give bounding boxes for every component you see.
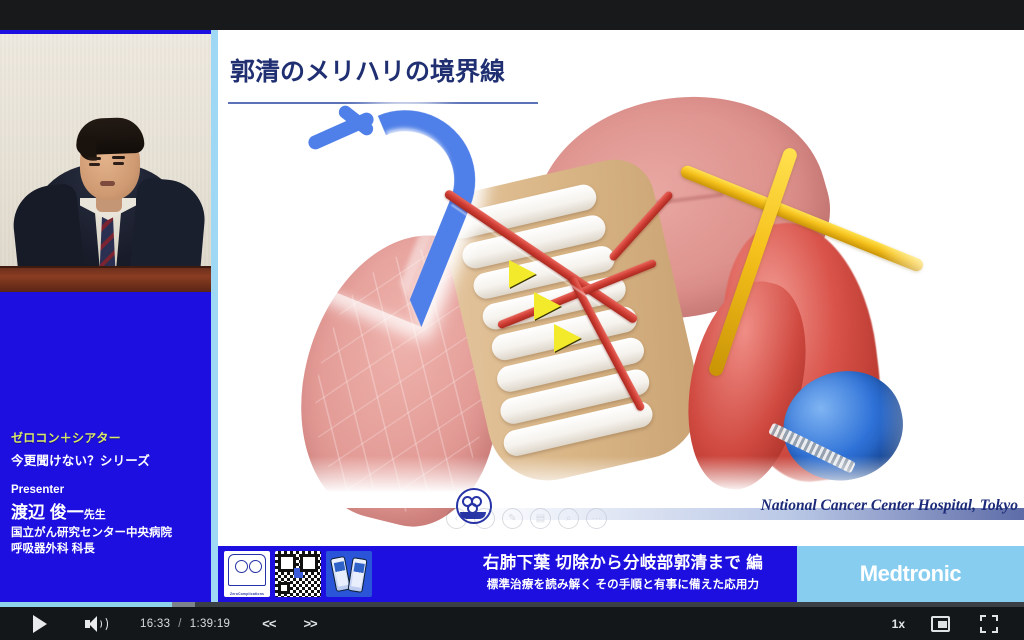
series-line-1: ゼロコン＋シアター (11, 429, 207, 446)
qr-code[interactable] (275, 551, 321, 597)
presenter-label: Presenter (11, 484, 207, 496)
presenter-affiliation-1: 国立がん研究センター中央病院 (11, 524, 207, 540)
rewind-button[interactable]: << (262, 616, 275, 631)
playback-speed-button[interactable]: 1x (892, 617, 905, 631)
medtronic-logo: Medtronic (797, 546, 1024, 602)
player-controls: 16:33/1:39:19 << >> 1x (0, 602, 1024, 640)
banner-title: 右肺下葉 切除から分岐部郭清まで 編 (393, 549, 853, 573)
desk (0, 266, 211, 292)
presenter-figure (28, 122, 188, 272)
total-time: 1:39:19 (190, 618, 230, 630)
back-icon[interactable]: ‹ (446, 508, 467, 529)
play-icon[interactable] (30, 614, 50, 634)
presenter-name: 渡辺 俊一先生 (11, 498, 207, 523)
eye-left (89, 163, 100, 166)
presenter-webcam-video[interactable] (0, 34, 211, 292)
mouth (100, 181, 115, 186)
presenter-affiliation-2: 呼吸器外科 科長 (11, 540, 207, 556)
eye-right (113, 162, 124, 165)
presenter-info: ゼロコン＋シアター 今更聞けない？シリーズ Presenter 渡辺 俊一先生 … (11, 429, 207, 556)
series-line-2: 今更聞けない？シリーズ (11, 450, 207, 469)
mobile-app-screenshot[interactable] (326, 551, 372, 597)
banner-subtitle: 標準治療を読み解く その手順と有事に備えた応用力 (393, 576, 853, 592)
presenter-name-text: 渡辺 俊一 (11, 503, 84, 522)
presenter-panel: ゼロコン＋シアター 今更聞けない？シリーズ Presenter 渡辺 俊一先生 … (0, 30, 211, 602)
presenter-honorific: 先生 (84, 509, 106, 521)
time-separator: / (178, 618, 182, 630)
picture-in-picture-icon[interactable] (931, 616, 950, 632)
fullscreen-icon[interactable] (980, 615, 998, 633)
slide-content: 郭清のメリハリの境界線 (218, 30, 1024, 602)
slide-credit: National Cancer Center Hospital, Tokyo (761, 497, 1018, 515)
zero-complications-logo[interactable]: ZeroComplications (224, 551, 270, 597)
time-display: 16:33/1:39:19 (140, 618, 230, 630)
medtronic-wordmark: Medtronic (860, 561, 962, 587)
presentation-stage: ゼロコン＋シアター 今更聞けない？シリーズ Presenter 渡辺 俊一先生 … (0, 30, 1024, 602)
dissection-arrow-3 (554, 324, 581, 352)
banner-thumbnails: ZeroComplications (224, 551, 372, 597)
panel-divider (211, 30, 218, 602)
hair (75, 117, 144, 155)
eyebrow-right (112, 156, 125, 159)
forward-button[interactable]: >> (303, 616, 316, 631)
thoracic-anatomy-illustration (296, 102, 996, 502)
program-banner: ZeroComplications 右肺下葉 切除から分岐部郭清まで 編 標準治… (218, 546, 1024, 602)
eyebrow-left (88, 157, 101, 160)
dissection-arrow-2 (534, 292, 561, 320)
current-time: 16:33 (140, 618, 170, 630)
volume-icon[interactable] (84, 614, 106, 634)
dissection-arrow-1 (509, 260, 536, 288)
banner-titles: 右肺下葉 切除から分岐部郭清まで 編 標準治療を読み解く その手順と有事に備えた… (393, 549, 853, 592)
top-bar (0, 0, 1024, 30)
zero-complications-caption: ZeroComplications (226, 592, 268, 596)
video-player-app: ゼロコン＋シアター 今更聞けない？シリーズ Presenter 渡辺 俊一先生 … (0, 0, 1024, 640)
page-title: 郭清のメリハリの境界線 (230, 52, 505, 92)
